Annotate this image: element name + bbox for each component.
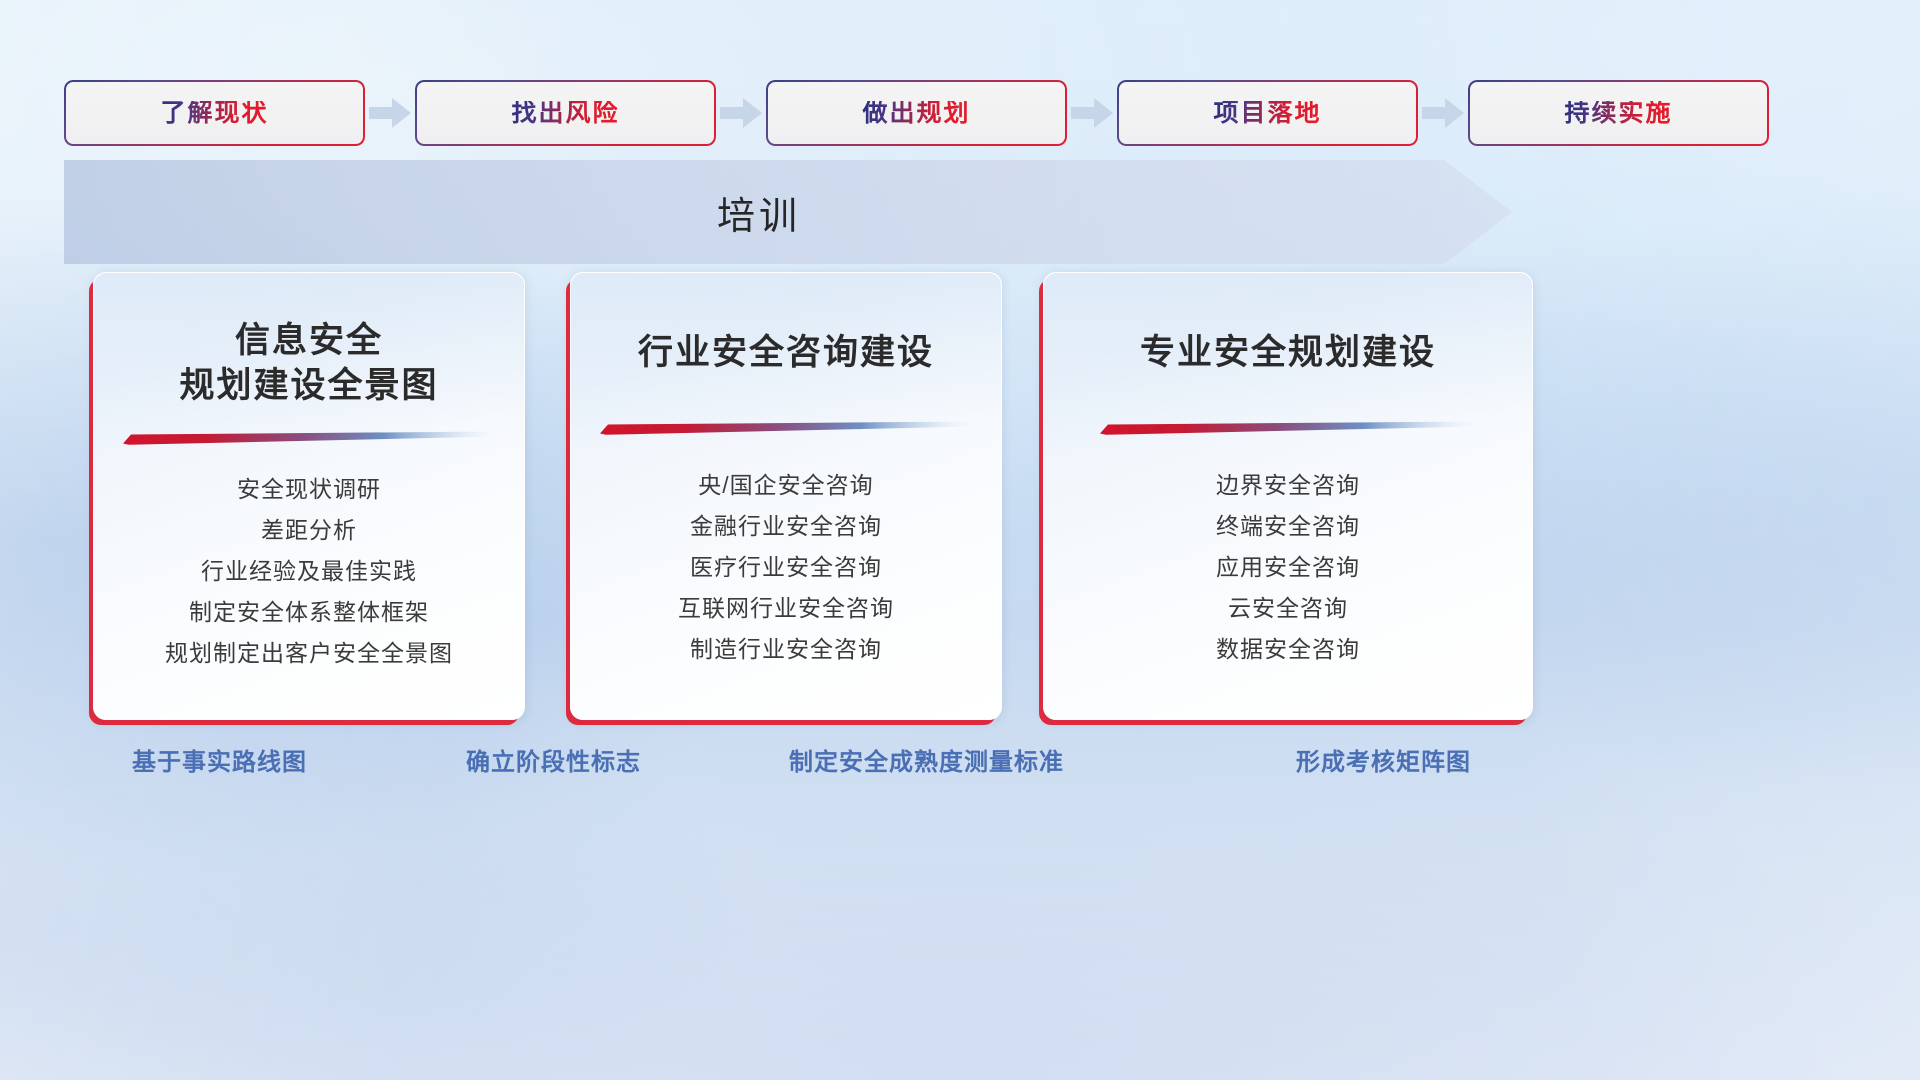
- card-item-list: 边界安全咨询 终端安全咨询 应用安全咨询 云安全咨询 数据安全咨询: [1044, 465, 1532, 670]
- banner-title: 培训: [64, 160, 1454, 264]
- gradient-divider-icon: [600, 421, 972, 435]
- footer-label-maturity: 制定安全成熟度测量标准: [789, 742, 1064, 777]
- list-item: 医疗行业安全咨询: [690, 547, 882, 588]
- step-box-5[interactable]: 持续实施: [1468, 80, 1769, 146]
- card-title: 行业安全咨询建设: [638, 331, 934, 376]
- card-title: 信息安全 规划建设全景图: [179, 319, 438, 409]
- list-item: 互联网行业安全咨询: [678, 588, 894, 629]
- card-industry-security-consulting[interactable]: 行业安全咨询建设: [570, 272, 1002, 720]
- arrow-right-icon: [366, 80, 414, 146]
- list-item: 规划制定出客户安全全景图: [165, 633, 453, 674]
- slide-stage: 了解现状 找出风险 做出规划 项目落地: [0, 0, 1920, 1080]
- step-label-3: 做出规划: [862, 101, 970, 126]
- list-item: 制定安全体系整体框架: [189, 592, 429, 633]
- list-item: 边界安全咨询: [1216, 465, 1360, 506]
- card-item-list: 安全现状调研 差距分析 行业经验及最佳实践 制定安全体系整体框架 规划制定出客户…: [94, 469, 524, 674]
- list-item: 制造行业安全咨询: [690, 629, 882, 670]
- card-professional-security-planning[interactable]: 专业安全规划建设: [1043, 272, 1533, 720]
- step-box-2[interactable]: 找出风险: [415, 80, 716, 146]
- arrow-right-icon: [1419, 80, 1467, 146]
- list-item: 差距分析: [261, 510, 357, 551]
- gradient-divider-icon: [1100, 421, 1476, 435]
- footer-label-matrix: 形成考核矩阵图: [1296, 742, 1471, 777]
- list-item: 行业经验及最佳实践: [201, 551, 417, 592]
- footer-label-milestone: 确立阶段性标志: [466, 742, 641, 777]
- list-item: 数据安全咨询: [1216, 629, 1360, 670]
- step-box-3[interactable]: 做出规划: [766, 80, 1067, 146]
- step-label-2: 找出风险: [511, 101, 619, 126]
- list-item: 应用安全咨询: [1216, 547, 1360, 588]
- step-label-5: 持续实施: [1564, 101, 1672, 126]
- footer-label-row: 基于事实路线图 确立阶段性标志 制定安全成熟度测量标准 形成考核矩阵图: [0, 742, 1920, 790]
- step-box-1[interactable]: 了解现状: [64, 80, 365, 146]
- arrow-right-icon: [1068, 80, 1116, 146]
- step-label-4: 项目落地: [1213, 101, 1321, 126]
- card-information-security-blueprint[interactable]: 信息安全 规划建设全景图: [93, 272, 525, 720]
- list-item: 终端安全咨询: [1216, 506, 1360, 547]
- card-item-list: 央/国企安全咨询 金融行业安全咨询 医疗行业安全咨询 互联网行业安全咨询 制造行…: [571, 465, 1001, 670]
- arrow-right-icon: [717, 80, 765, 146]
- card-group: 信息安全 规划建设全景图: [0, 272, 1920, 720]
- list-item: 央/国企安全咨询: [698, 465, 873, 506]
- list-item: 云安全咨询: [1228, 588, 1348, 629]
- footer-label-roadmap: 基于事实路线图: [132, 742, 307, 777]
- card-title: 专业安全规划建设: [1140, 331, 1436, 376]
- list-item: 金融行业安全咨询: [690, 506, 882, 547]
- step-box-4[interactable]: 项目落地: [1117, 80, 1418, 146]
- list-item: 安全现状调研: [237, 469, 381, 510]
- training-banner: 培训: [64, 160, 1512, 264]
- process-step-row: 了解现状 找出风险 做出规划 项目落地: [64, 80, 1856, 146]
- step-label-1: 了解现状: [160, 101, 268, 126]
- gradient-divider-icon: [123, 431, 495, 445]
